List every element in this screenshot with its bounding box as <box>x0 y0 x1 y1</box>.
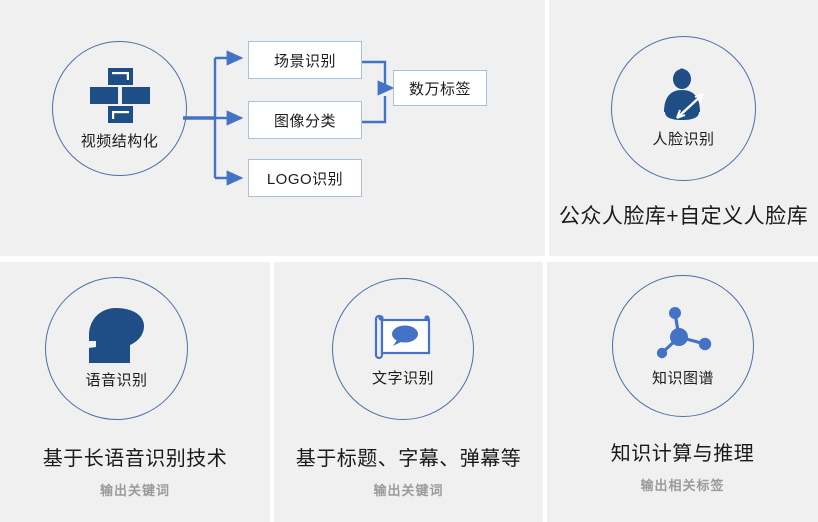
circle-knowledge-graph[interactable]: 知识图谱 <box>612 275 754 417</box>
flowbox-scene-recognition-label: 场景识别 <box>274 50 336 71</box>
flowbox-image-classification[interactable]: 图像分类 <box>248 101 362 139</box>
face-recognition-icon <box>656 68 712 124</box>
caption-speech-recognition: 基于长语音识别技术 输出关键词 <box>0 442 270 499</box>
caption-main-knowledge-graph: 知识计算与推理 <box>547 437 818 466</box>
circle-face-recognition[interactable]: 人脸识别 <box>611 36 756 181</box>
text-banner-icon <box>372 311 434 363</box>
circle-label-speech-recognition: 语音识别 <box>85 369 147 390</box>
circle-label-text-recognition: 文字识别 <box>372 367 434 388</box>
caption-sub-text-recognition: 输出关键词 <box>274 480 543 499</box>
panel-video-structuring: 视频结构化 场景识别 图像分类 LOGO识别 数万标签 <box>0 0 545 256</box>
caption-face-recognition: 公众人脸库+自定义人脸库 <box>549 200 818 230</box>
slide-board: 视频结构化 场景识别 图像分类 LOGO识别 数万标签 <box>0 0 818 522</box>
caption-main-face-recognition: 公众人脸库+自定义人脸库 <box>549 200 818 230</box>
circle-speech-recognition[interactable]: 语音识别 <box>45 277 188 420</box>
circle-video-structuring[interactable]: 视频结构化 <box>52 41 187 176</box>
circle-text-recognition[interactable]: 文字识别 <box>332 278 474 420</box>
flowbox-image-classification-label: 图像分类 <box>274 110 336 131</box>
flowbox-tens-of-thousands-tags[interactable]: 数万标签 <box>393 70 487 106</box>
circle-label-knowledge-graph: 知识图谱 <box>652 367 714 388</box>
speech-head-icon <box>86 307 148 365</box>
caption-sub-knowledge-graph: 输出相关标签 <box>547 475 818 494</box>
caption-main-speech-recognition: 基于长语音识别技术 <box>0 442 270 471</box>
flowbox-logo-recognition[interactable]: LOGO识别 <box>248 159 362 197</box>
flowbox-tens-of-thousands-tags-label: 数万标签 <box>409 78 471 99</box>
panel-face-recognition: 人脸识别 公众人脸库+自定义人脸库 <box>549 0 818 256</box>
caption-knowledge-graph: 知识计算与推理 输出相关标签 <box>547 437 818 494</box>
video-structuring-icon <box>89 66 151 126</box>
caption-main-text-recognition: 基于标题、字幕、弹幕等 <box>274 442 543 471</box>
circle-label-video-structuring: 视频结构化 <box>81 130 159 151</box>
panel-speech-recognition: 语音识别 基于长语音识别技术 输出关键词 <box>0 262 270 522</box>
caption-sub-speech-recognition: 输出关键词 <box>0 480 270 499</box>
flowbox-scene-recognition[interactable]: 场景识别 <box>248 41 362 79</box>
flowbox-logo-recognition-label: LOGO识别 <box>267 168 343 189</box>
caption-text-recognition: 基于标题、字幕、弹幕等 输出关键词 <box>274 442 543 499</box>
panel-knowledge-graph: 知识图谱 知识计算与推理 输出相关标签 <box>547 262 818 522</box>
circle-label-face-recognition: 人脸识别 <box>652 128 714 149</box>
panel-text-recognition: 文字识别 基于标题、字幕、弹幕等 输出关键词 <box>274 262 543 522</box>
knowledge-graph-icon <box>651 305 715 363</box>
